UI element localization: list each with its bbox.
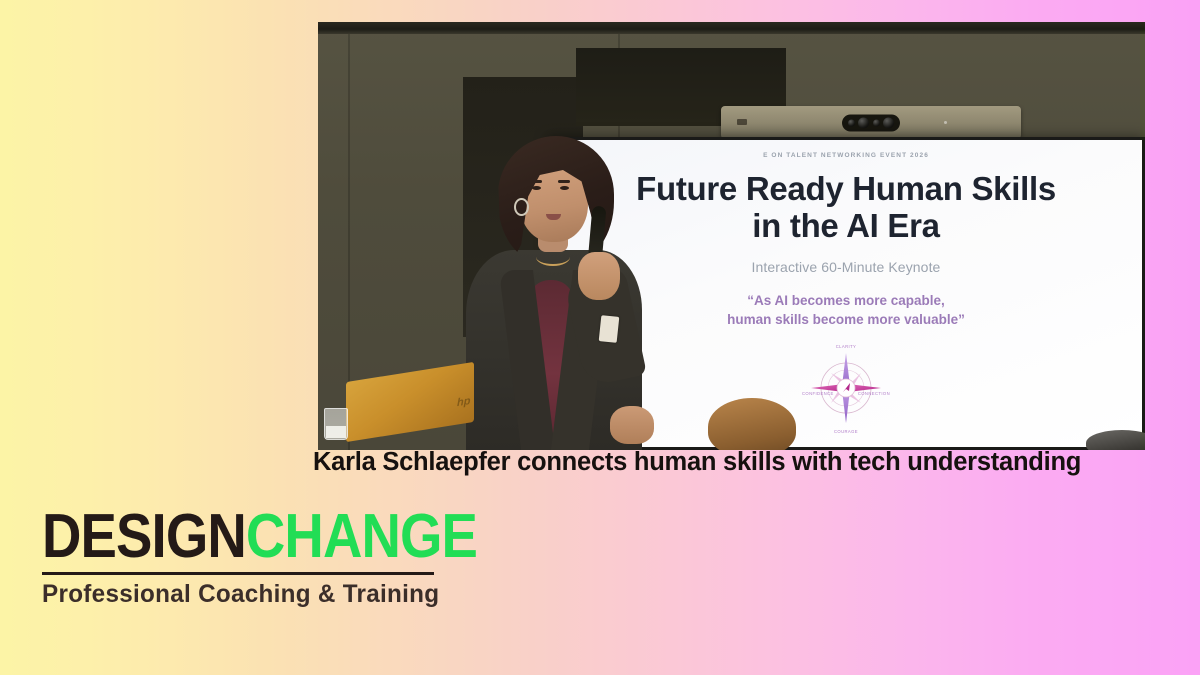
camera-lens-icon	[873, 119, 880, 126]
speaker-hand-holding-mic	[578, 252, 620, 300]
water-glass-fill	[326, 426, 346, 438]
social-card-canvas: E ON TALENT NETWORKING EVENT 2026 Future…	[0, 0, 1200, 675]
keynote-speaker-photo: E ON TALENT NETWORKING EVENT 2026 Future…	[318, 22, 1145, 450]
brand-logo: DESIGNCHANGE Professional Coaching & Tra…	[42, 506, 442, 609]
ceiling-strip	[318, 22, 1145, 34]
camera-status-led-icon	[944, 121, 947, 124]
slide-subtitle: Interactive 60-Minute Keynote	[752, 259, 941, 275]
brand-logo-divider	[42, 572, 434, 575]
speaker-earring	[514, 198, 529, 216]
photo-caption: Karla Schlaepfer connects human skills w…	[313, 448, 1158, 477]
speaker-eye	[560, 186, 569, 190]
video-conference-camera-bar	[721, 106, 1021, 139]
compass-north-label: CLARITY	[836, 344, 856, 349]
brand-logo-word-primary: DESIGN	[42, 502, 246, 571]
compass-west-label: CONFIDENCE	[802, 391, 834, 396]
slide-eyebrow: E ON TALENT NETWORKING EVENT 2026	[763, 152, 929, 159]
slide-quote-line-2: human skills become more valuable”	[727, 312, 965, 327]
brand-logo-wordmark: DESIGNCHANGE	[42, 506, 394, 568]
compass-rose-graphic: CLARITY CONFIDENCE CONNECTION COURAGE	[798, 340, 894, 436]
slide-title-line-1: Future Ready Human Skills	[636, 170, 1056, 207]
compass-east-label: CONNECTION	[858, 391, 890, 396]
camera-lens-icon	[883, 117, 894, 128]
laptop: hp	[346, 372, 486, 438]
audience-head	[708, 398, 796, 450]
speaker-hand-lower	[610, 406, 654, 444]
slide-quote-line-1: “As AI becomes more capable,	[747, 293, 945, 308]
slide-title: Future Ready Human Skills in the AI Era	[636, 171, 1056, 245]
brand-logo-tagline: Professional Coaching & Training	[42, 580, 430, 609]
camera-lens-icon	[858, 117, 869, 128]
laptop-brand-label: hp	[457, 395, 470, 409]
name-badge	[599, 315, 620, 343]
camera-brand-mark	[737, 119, 747, 125]
speaker-necklace	[536, 248, 570, 266]
camera-lens-pod	[842, 114, 900, 131]
speaker-figure	[458, 120, 668, 450]
compass-south-label: COURAGE	[834, 429, 858, 434]
camera-lens-icon	[848, 119, 855, 126]
water-glass	[324, 408, 348, 440]
laptop-lid	[346, 362, 474, 442]
slide-title-line-2: in the AI Era	[752, 207, 939, 244]
slide-quote: “As AI becomes more capable, human skill…	[727, 291, 965, 330]
speaker-brow	[558, 180, 570, 183]
brand-logo-word-accent: CHANGE	[246, 502, 477, 571]
